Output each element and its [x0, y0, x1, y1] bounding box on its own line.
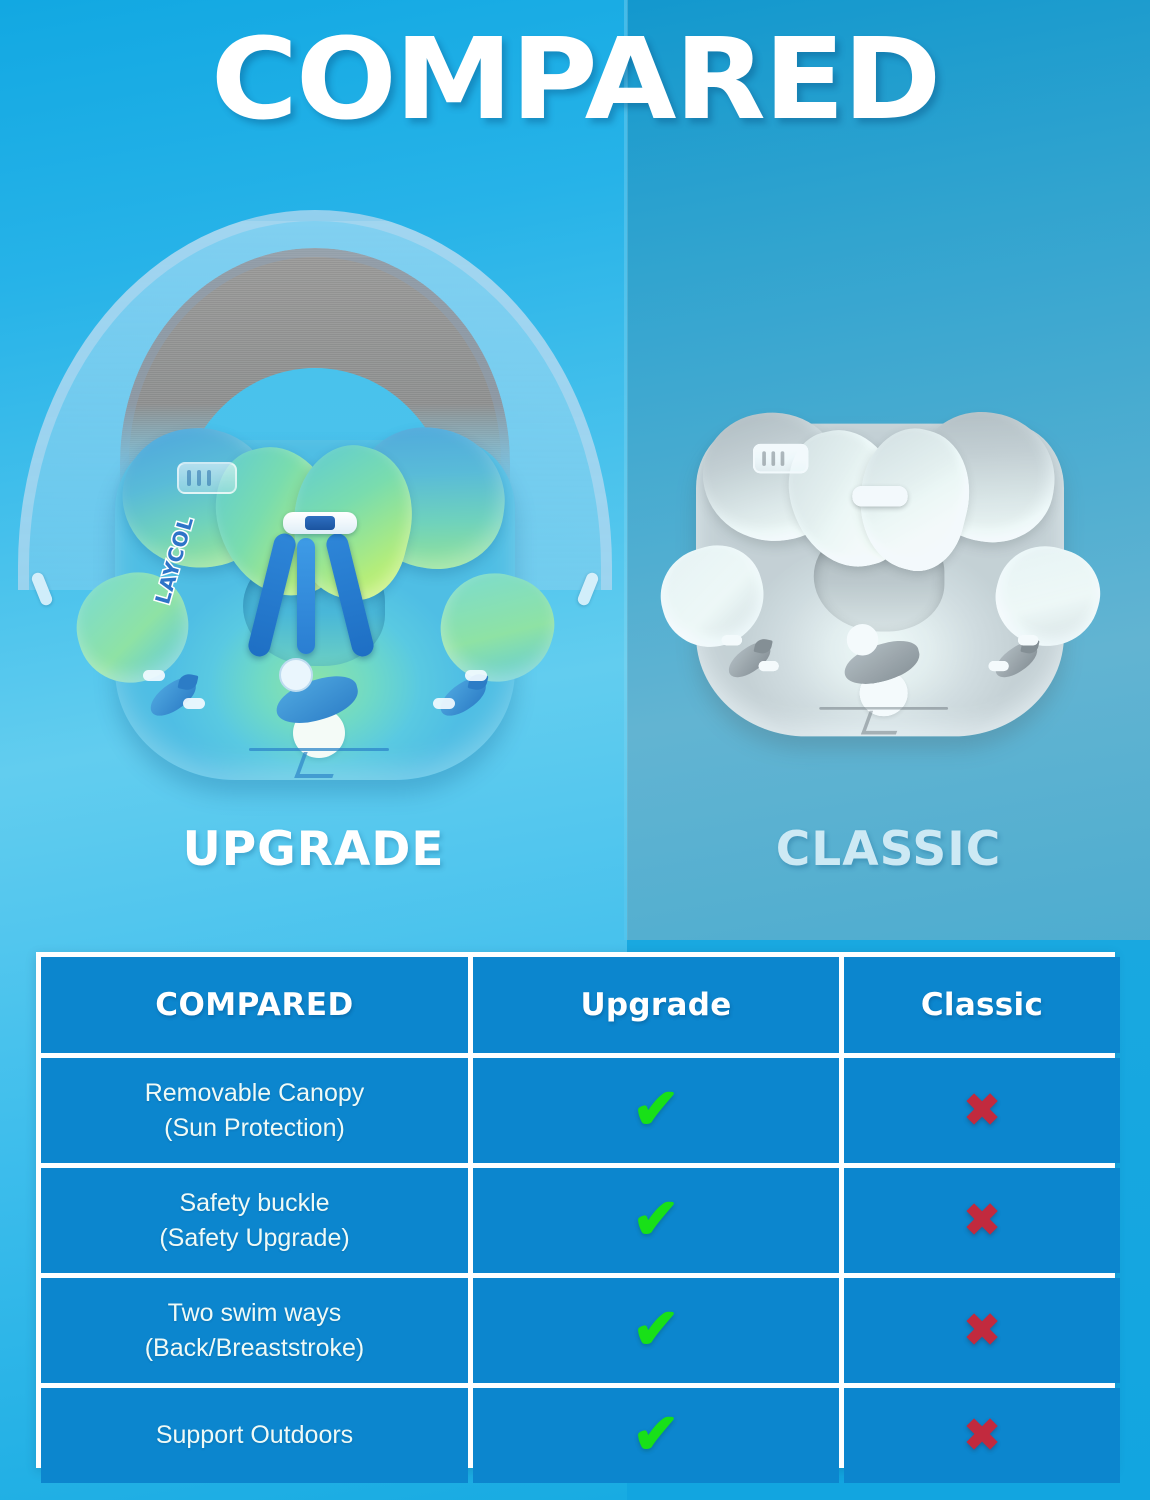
dolphin-graphic-center-icon [263, 656, 373, 760]
swim-float-body: LAYCOL [115, 440, 515, 780]
feature-label: Safety buckle (Safety Upgrade) [159, 1186, 349, 1255]
cross-icon: ✖ [964, 1199, 1001, 1243]
table-header-feature-label: COMPARED [155, 987, 354, 1023]
product-image-upgrade: LAYCOL [10, 200, 620, 810]
feature-line-1: Safety buckle [159, 1186, 349, 1221]
feature-label: Two swim ways (Back/Breaststroke) [145, 1296, 365, 1365]
inflation-valve-icon-classic [753, 444, 808, 473]
check-icon: ✔ [633, 1081, 680, 1137]
dolphin-graphic-left-icon [143, 668, 205, 730]
table-cell-upgrade: ✔ [473, 1168, 839, 1273]
dolphin-graphic-left-icon-classic [722, 633, 779, 690]
swim-float-body-classic [696, 424, 1064, 737]
caption-classic: CLASSIC [627, 822, 1150, 877]
table-cell-classic: ✖ [844, 1388, 1120, 1483]
table-cell-classic: ✖ [844, 1058, 1120, 1163]
feature-line-2: (Safety Upgrade) [159, 1221, 349, 1256]
inflation-valve-icon [177, 462, 237, 494]
table-cell-classic: ✖ [844, 1278, 1120, 1383]
feature-line-1: Removable Canopy [145, 1076, 365, 1111]
table-cell-upgrade: ✔ [473, 1278, 839, 1383]
dolphin-graphic-right-icon [433, 668, 495, 730]
feature-line-1: Support Outdoors [156, 1418, 353, 1453]
table-header-classic-label: Classic [921, 987, 1043, 1023]
caption-upgrade: UPGRADE [0, 822, 627, 877]
table-row: Two swim ways (Back/Breaststroke) [41, 1278, 468, 1383]
feature-line-2: (Back/Breaststroke) [145, 1331, 365, 1366]
comparison-table: COMPARED Upgrade Classic Removable Canop… [36, 952, 1115, 1468]
table-row: Safety buckle (Safety Upgrade) [41, 1168, 468, 1273]
safety-buckle-harness-icon [235, 504, 391, 664]
check-icon: ✔ [633, 1406, 680, 1462]
table-cell-upgrade: ✔ [473, 1388, 839, 1483]
table-row: Removable Canopy (Sun Protection) [41, 1058, 468, 1163]
cross-icon: ✖ [964, 1414, 1001, 1458]
table-row: Support Outdoors [41, 1388, 468, 1483]
check-icon: ✔ [633, 1191, 680, 1247]
table-header-upgrade-label: Upgrade [580, 987, 731, 1023]
page-title: COMPARED [0, 24, 1150, 136]
dolphin-graphic-center-icon-classic [832, 622, 933, 718]
feature-line-2: (Sun Protection) [145, 1111, 365, 1146]
table-header-upgrade: Upgrade [473, 957, 839, 1053]
dolphin-graphic-right-icon-classic [989, 633, 1046, 690]
buckle-icon [283, 512, 357, 534]
cross-icon: ✖ [964, 1309, 1001, 1353]
plain-connector-classic [852, 486, 907, 506]
check-icon: ✔ [633, 1301, 680, 1357]
table-cell-classic: ✖ [844, 1168, 1120, 1273]
feature-line-1: Two swim ways [145, 1296, 365, 1331]
feature-label: Support Outdoors [156, 1418, 353, 1453]
product-image-classic [640, 400, 1120, 800]
table-cell-upgrade: ✔ [473, 1058, 839, 1163]
feature-label: Removable Canopy (Sun Protection) [145, 1076, 365, 1145]
table-header-feature: COMPARED [41, 957, 468, 1053]
table-header-classic: Classic [844, 957, 1120, 1053]
comparison-infographic: COMPARED LAYCOL [0, 0, 1150, 1500]
cross-icon: ✖ [964, 1089, 1001, 1133]
